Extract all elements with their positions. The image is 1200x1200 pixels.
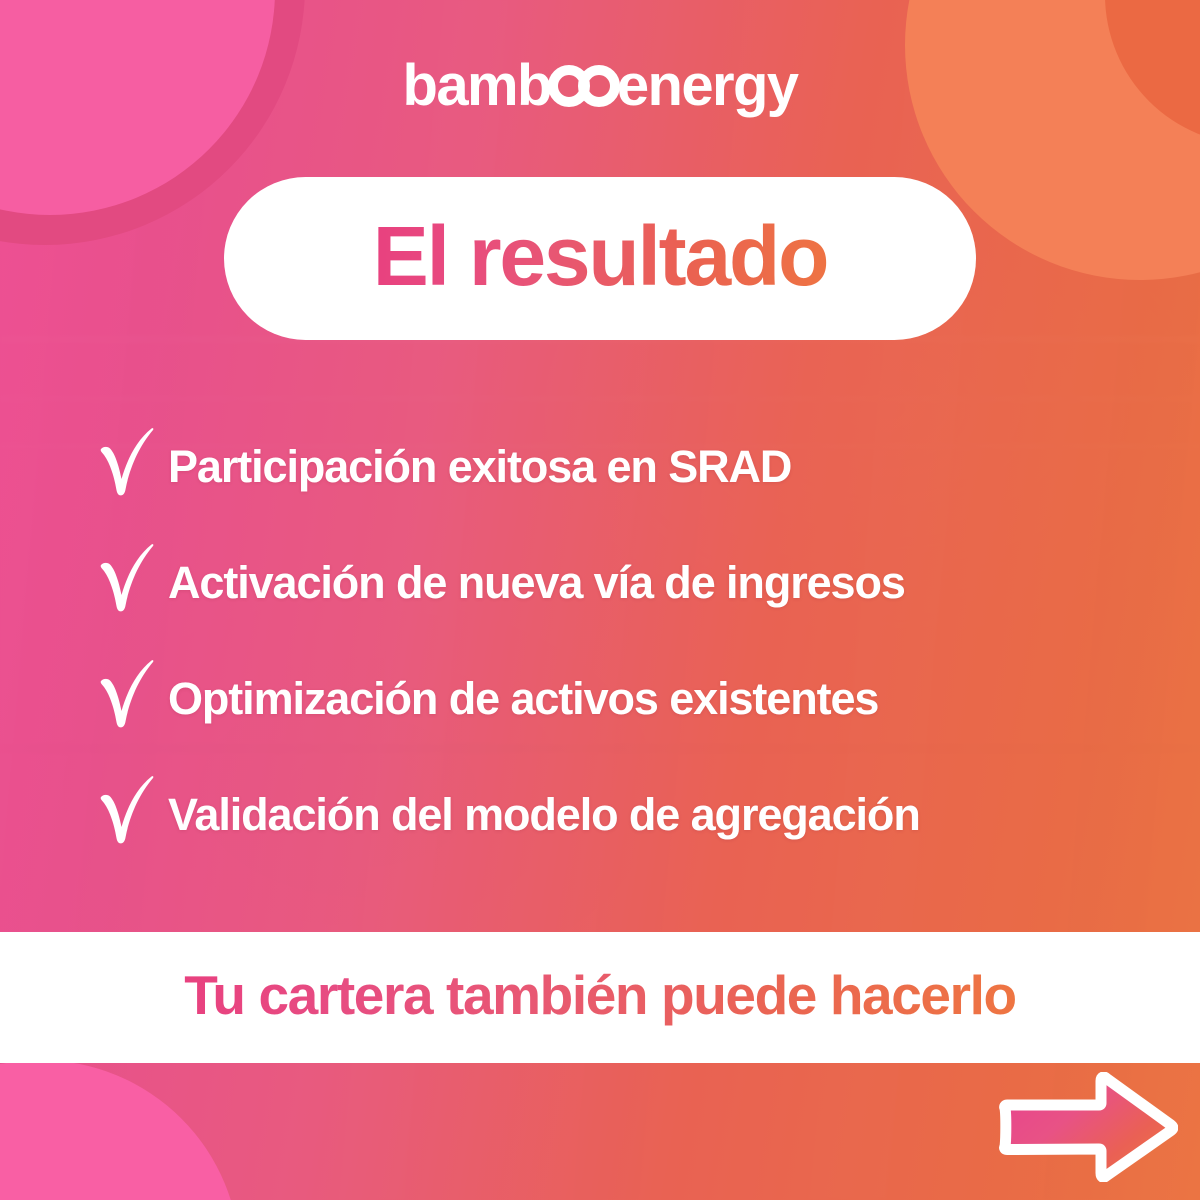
brand-logo-double-o-icon [548,65,620,107]
list-item: Optimización de activos existentes [96,640,1146,756]
list-item-label: Validación del modelo de agregación [168,792,920,837]
list-item: Activación de nueva vía de ingresos [96,524,1146,640]
brand-logo-prefix: bamb [403,57,551,115]
list-item: Validación del modelo de agregación [96,756,1146,872]
benefits-checklist: Participación exitosa en SRAD Activación… [96,408,1146,872]
list-item-label: Participación exitosa en SRAD [168,444,791,489]
check-mark-icon [96,659,158,731]
list-item-label: Activación de nueva vía de ingresos [168,560,905,605]
cta-banner: Tu cartera también puede hacerlo [0,932,1200,1063]
check-mark-icon [96,775,158,847]
check-mark-icon [96,427,158,499]
cta-banner-text: Tu cartera también puede hacerlo [184,968,1015,1027]
list-item: Participación exitosa en SRAD [96,408,1146,524]
check-mark-icon [96,543,158,615]
page-title: El resultado [373,214,827,304]
poster-canvas: bambenergy El resultado Participación ex… [0,0,1200,1200]
brand-logo-suffix: energy [617,57,798,115]
list-item-label: Optimización de activos existentes [168,676,878,721]
brand-logo: bambenergy [0,57,1200,115]
arrow-right-icon[interactable] [993,1072,1178,1182]
headline-pill: El resultado [224,177,976,340]
